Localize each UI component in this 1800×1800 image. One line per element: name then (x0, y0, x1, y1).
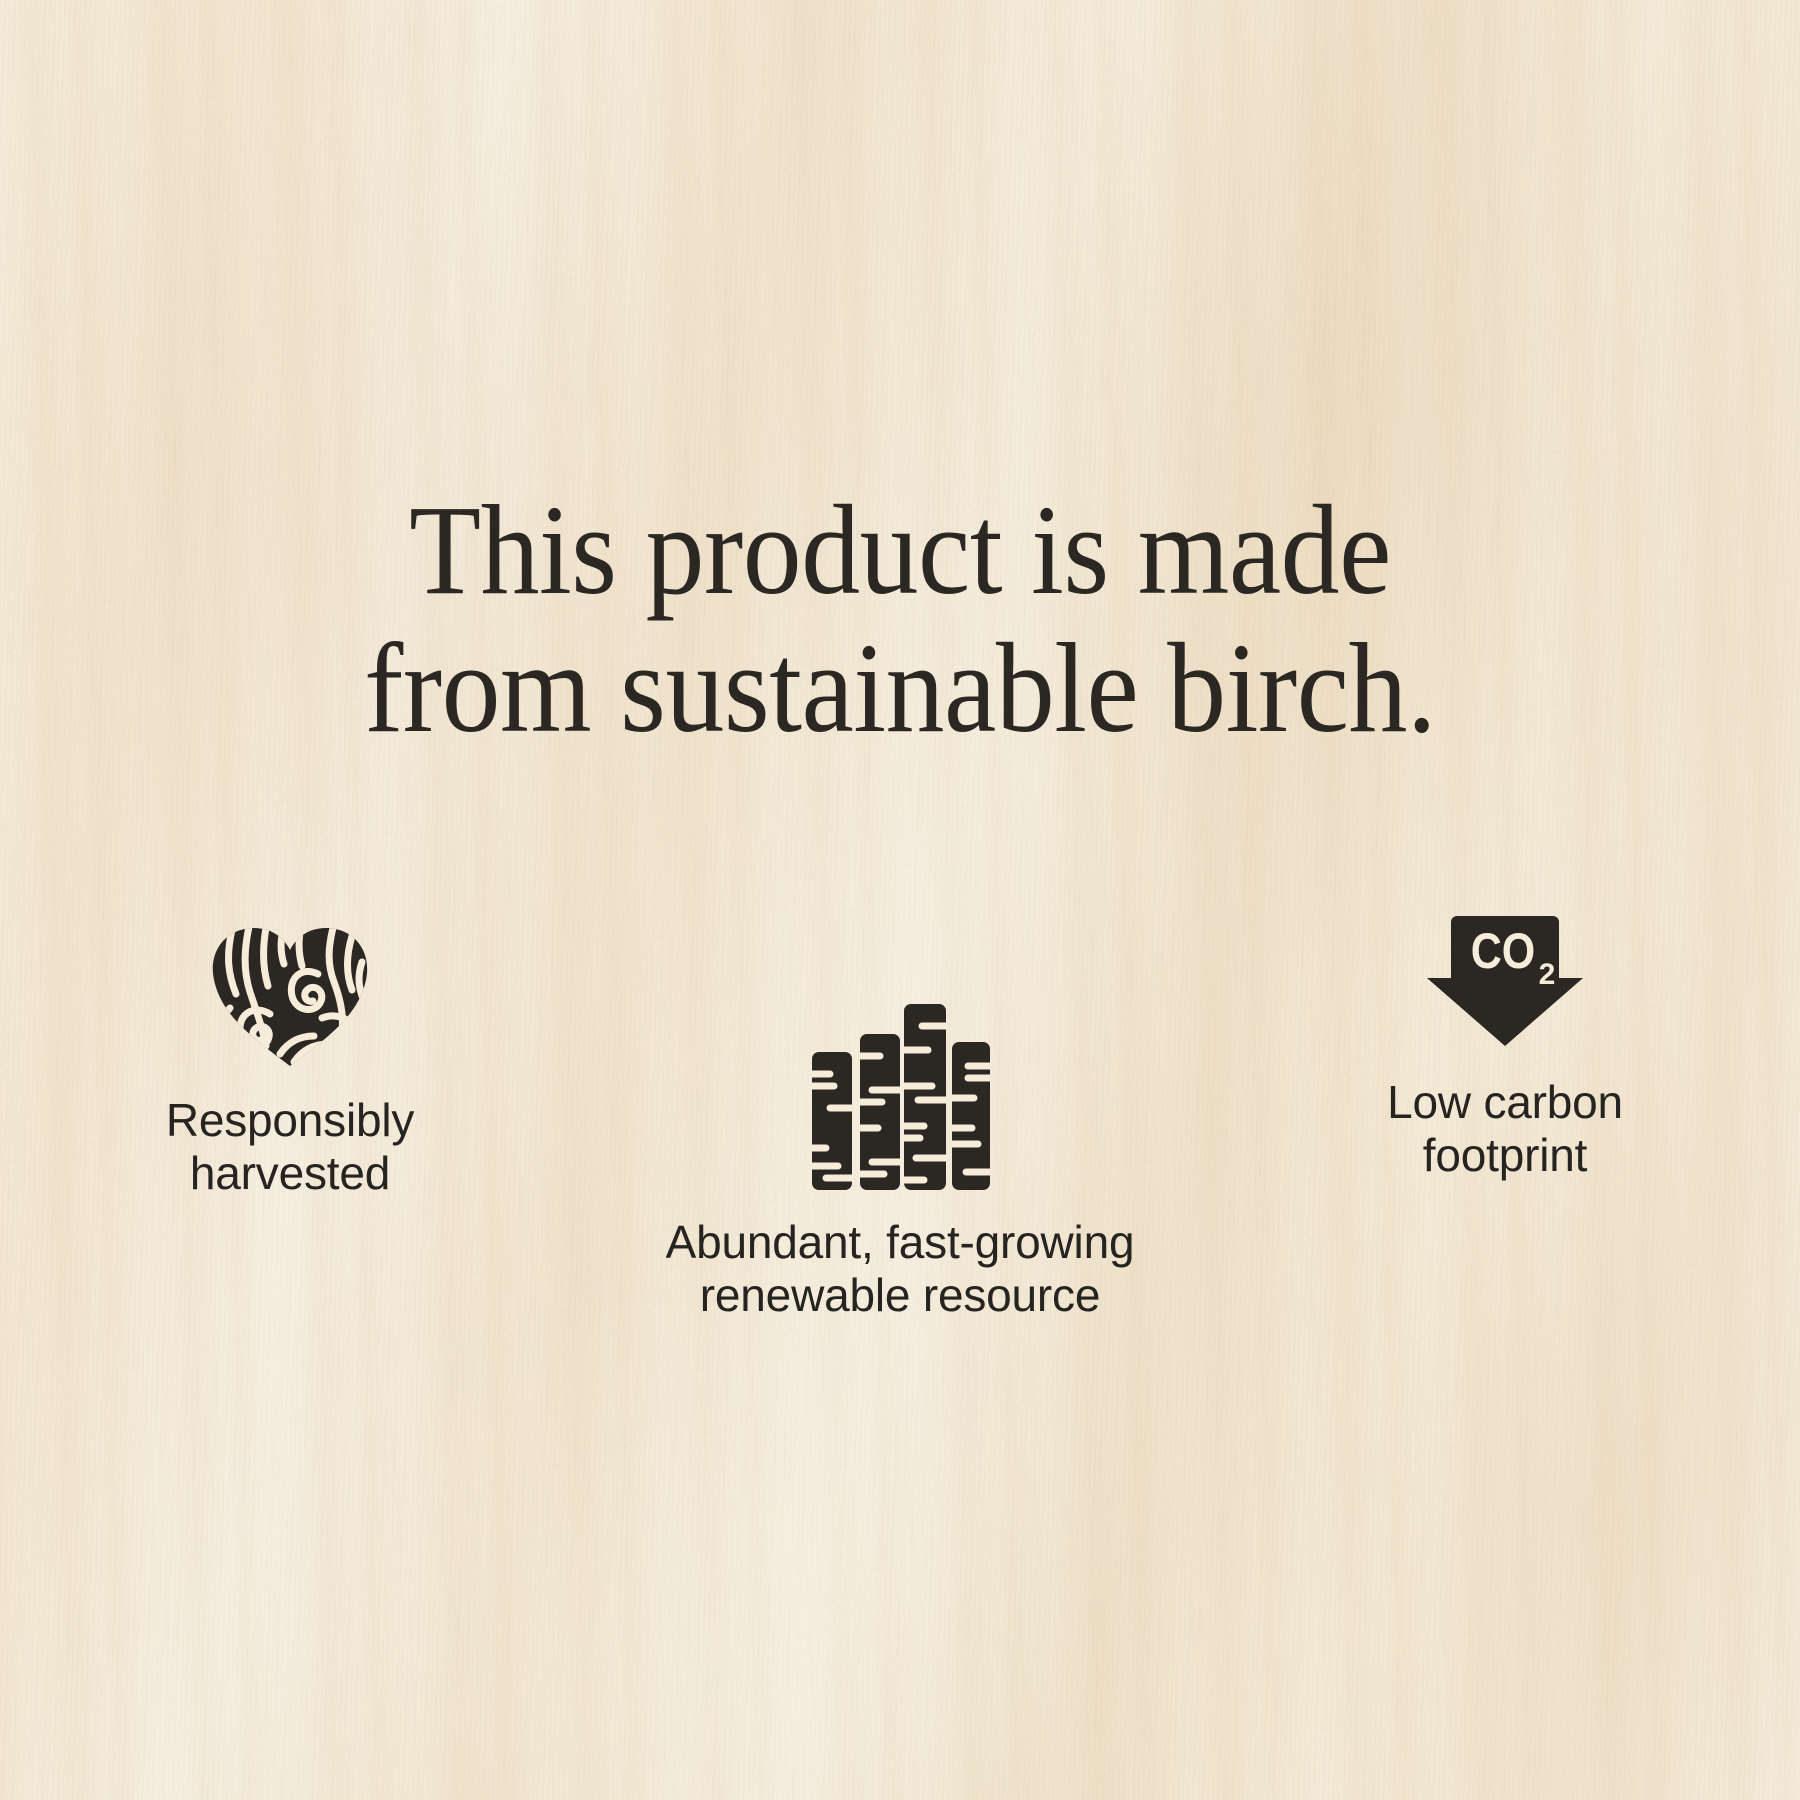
co2-label-text: CO (1471, 923, 1535, 979)
icon-container: CO 2 (1290, 900, 1720, 1050)
poster-content: This product is made from sustainable bi… (0, 0, 1800, 1800)
feature-low-carbon-footprint: CO 2 Low carbon footprint (1290, 900, 1720, 1183)
co2-down-arrow-icon: CO 2 (1423, 912, 1587, 1050)
feature-caption: Responsibly harvested (80, 1094, 500, 1201)
feature-caption: Abundant, fast-growing renewable resourc… (600, 1216, 1200, 1323)
feature-caption: Low carbon footprint (1290, 1076, 1720, 1183)
icon-container (600, 1000, 1200, 1190)
icon-container (80, 918, 500, 1068)
feature-responsibly-harvested: Responsibly harvested (80, 918, 500, 1201)
co2-subscript-text: 2 (1539, 958, 1556, 991)
feature-list: Responsibly harvested (0, 900, 1800, 1420)
feature-renewable-resource: Abundant, fast-growing renewable resourc… (600, 1000, 1200, 1323)
poster-canvas: This product is made from sustainable bi… (0, 0, 1800, 1800)
page-title: This product is made from sustainable bi… (72, 481, 1728, 757)
wood-grain-heart-icon (210, 922, 370, 1068)
birch-trunks-icon (808, 1004, 992, 1190)
